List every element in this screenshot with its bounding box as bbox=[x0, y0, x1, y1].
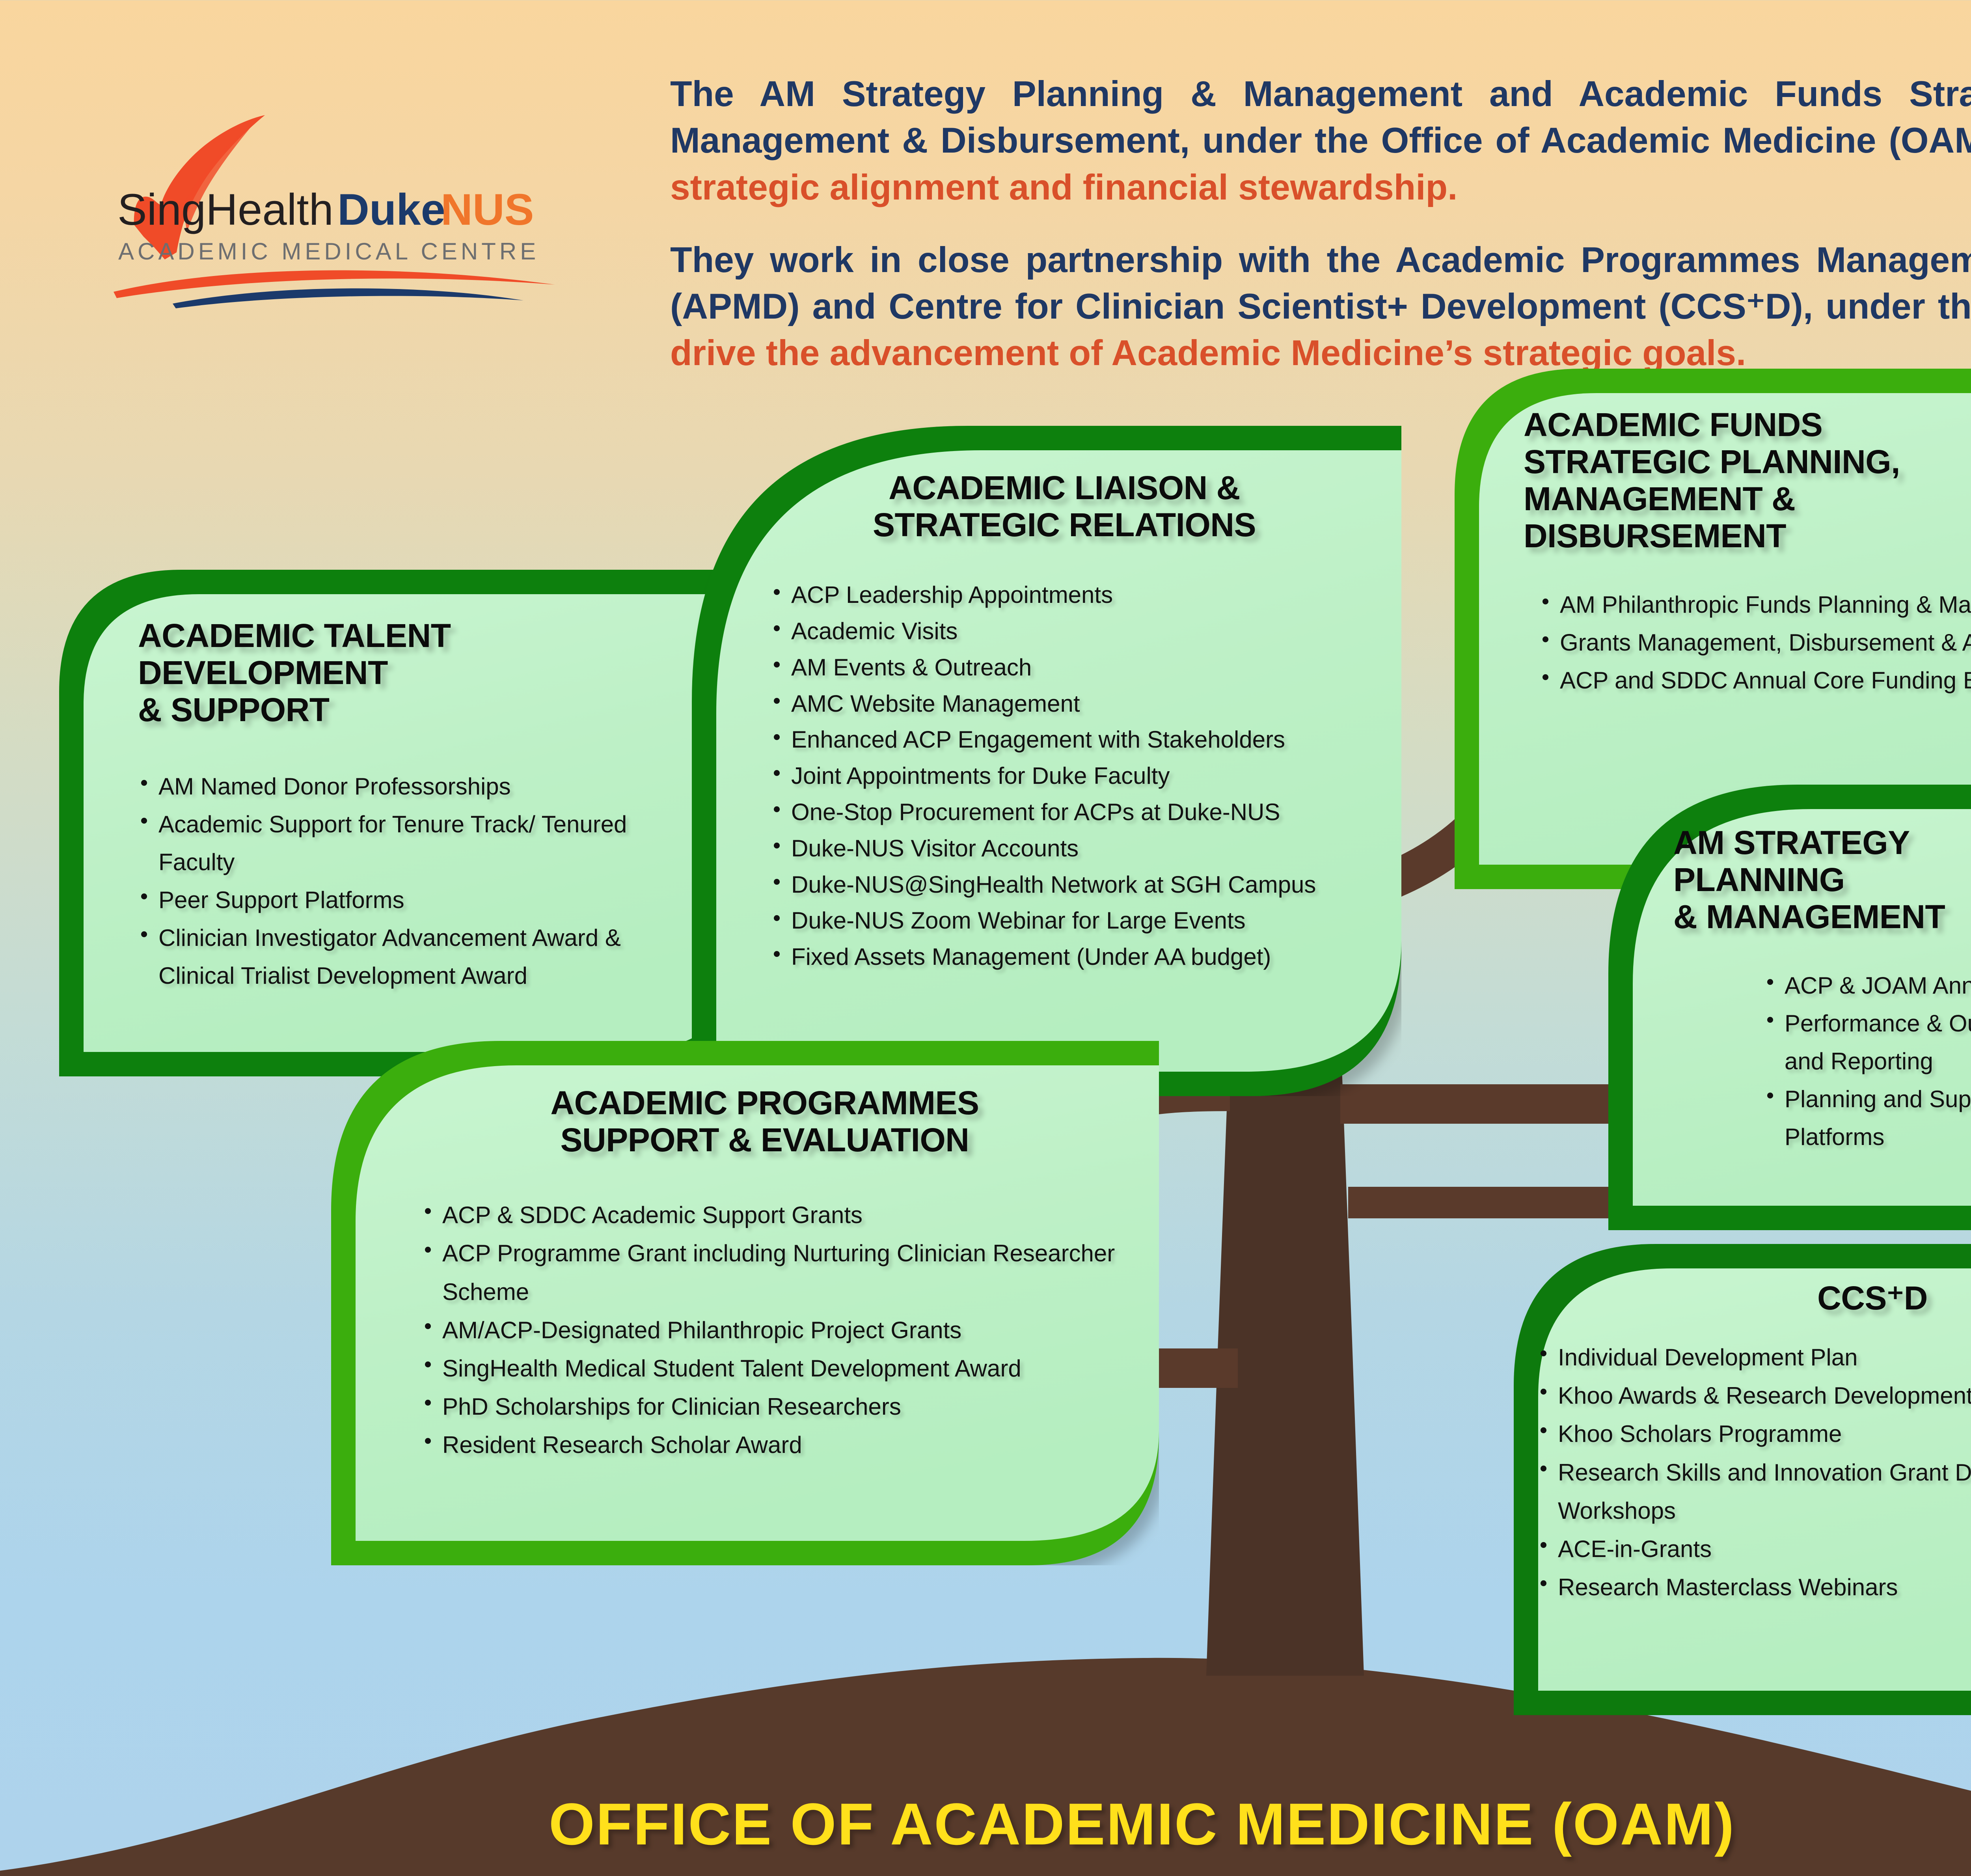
logo-nus-text: NUS bbox=[441, 185, 534, 234]
leaf-academic-talent-development-support[interactable]: ACADEMIC TALENT DEVELOPMENT & SUPPORT AM… bbox=[59, 570, 737, 1076]
leaf-am-strategy-planning-management[interactable]: AM STRATEGY PLANNING & MANAGEMENT ACP & … bbox=[1608, 785, 1971, 1230]
list-item: Enhanced ACP Engagement with Stakeholder… bbox=[771, 722, 1370, 758]
list-item: AM Named Donor Professorships bbox=[138, 768, 690, 806]
logo-artwork: SingHealth Duke NUS ACADEMIC MEDICAL CEN… bbox=[106, 106, 614, 315]
list-item: Research Skills and Innovation Grant Dev… bbox=[1537, 1453, 1971, 1530]
leaf-title-talent: ACADEMIC TALENT DEVELOPMENT & SUPPORT bbox=[138, 617, 690, 728]
list-item: ACP & SDDC Academic Support Grants bbox=[422, 1196, 1116, 1234]
list-item: Planning and Support of Strategic AM Pla… bbox=[1764, 1080, 1971, 1156]
leaf-items-funds: AM Philanthropic Funds Planning & Manage… bbox=[1539, 586, 1971, 699]
list-item: Resident Research Scholar Award bbox=[422, 1426, 1116, 1464]
leaf-academic-programmes-support-evaluation[interactable]: ACADEMIC PROGRAMMES SUPPORT & EVALUATION… bbox=[331, 1041, 1159, 1565]
list-item: Duke-NUS Zoom Webinar for Large Events bbox=[771, 903, 1370, 939]
logo-tagline-text: ACADEMIC MEDICAL CENTRE bbox=[118, 238, 539, 265]
list-item: AM Philanthropic Funds Planning & Manage… bbox=[1539, 586, 1971, 624]
list-item: Academic Support for Tenure Track/ Tenur… bbox=[138, 806, 690, 881]
singhealth-dukenus-logo: SingHealth Duke NUS ACADEMIC MEDICAL CEN… bbox=[106, 106, 614, 315]
list-item: Fixed Assets Management (Under AA budget… bbox=[771, 939, 1370, 975]
list-item: Khoo Scholars Programme bbox=[1537, 1415, 1971, 1453]
list-item: SingHealth Medical Student Talent Develo… bbox=[422, 1349, 1116, 1387]
leaf-items-programmes: ACP & SDDC Academic Support Grants ACP P… bbox=[422, 1196, 1116, 1464]
list-item: Research Masterclass Webinars bbox=[1537, 1568, 1971, 1606]
list-item: Clinician Investigator Advancement Award… bbox=[138, 919, 690, 995]
list-item: Academic Visits bbox=[771, 613, 1370, 649]
header-paragraph-1: The AM Strategy Planning & Management an… bbox=[670, 71, 1971, 211]
leaf-title-ccsd: CCS⁺D bbox=[1581, 1279, 1971, 1317]
list-item: One-Stop Procurement for ACPs at Duke-NU… bbox=[771, 794, 1370, 830]
leaf-ccs-plus-d[interactable]: CCS⁺D Individual Development Plan Khoo A… bbox=[1514, 1244, 1971, 1715]
list-item: Duke-NUS Visitor Accounts bbox=[771, 830, 1370, 867]
list-item: ACE-in-Grants bbox=[1537, 1530, 1971, 1568]
leaf-items-strategy: ACP & JOAM Annual Work Plans Performance… bbox=[1764, 967, 1971, 1156]
header-paragraph-2: They work in close partnership with the … bbox=[670, 237, 1971, 377]
header-description: The AM Strategy Planning & Management an… bbox=[670, 71, 1971, 377]
list-item: ACP Programme Grant including Nurturing … bbox=[422, 1234, 1116, 1311]
leaf-title-strategy: AM STRATEGY PLANNING & MANAGEMENT bbox=[1673, 824, 1971, 935]
list-item: PhD Scholarships for Clinician Researche… bbox=[422, 1387, 1116, 1426]
header-p2-dark: They work in close partnership with the … bbox=[670, 240, 1971, 326]
list-item: Grants Management, Disbursement & Audits bbox=[1539, 624, 1971, 662]
list-item: Khoo Awards & Research Development Semin… bbox=[1537, 1376, 1971, 1415]
leaf-items-liaison: ACP Leadership Appointments Academic Vis… bbox=[771, 577, 1370, 975]
leaf-title-funds: ACADEMIC FUNDS STRATEGIC PLANNING, MANAG… bbox=[1524, 406, 1971, 554]
leaf-items-ccsd: Individual Development Plan Khoo Awards … bbox=[1537, 1338, 1971, 1606]
list-item: Individual Development Plan bbox=[1537, 1338, 1971, 1376]
leaf-academic-liaison-strategic-relations[interactable]: ACADEMIC LIAISON & STRATEGIC RELATIONS A… bbox=[692, 426, 1401, 1096]
list-item: ACP Leadership Appointments bbox=[771, 577, 1370, 613]
leaf-title-programmes: ACADEMIC PROGRAMMES SUPPORT & EVALUATION bbox=[414, 1084, 1116, 1158]
list-item: Joint Appointments for Duke Faculty bbox=[771, 758, 1370, 794]
logo-singhealth-text: SingHealth bbox=[117, 185, 333, 234]
leaf-items-talent: AM Named Donor Professorships Academic S… bbox=[138, 768, 690, 995]
list-item: Performance & Outcome Measurement and Re… bbox=[1764, 1005, 1971, 1080]
list-item: Duke-NUS@SingHealth Network at SGH Campu… bbox=[771, 867, 1370, 903]
logo-duke-text: Duke bbox=[337, 185, 445, 234]
banner-office-of-academic-medicine: OFFICE OF ACADEMIC MEDICINE (OAM) bbox=[0, 1790, 1971, 1858]
list-item: AM Events & Outreach bbox=[771, 649, 1370, 686]
list-item: Peer Support Platforms bbox=[138, 881, 690, 919]
list-item: ACP & JOAM Annual Work Plans bbox=[1764, 967, 1971, 1005]
list-item: ACP and SDDC Annual Core Funding Budget … bbox=[1539, 662, 1971, 699]
list-item: AMC Website Management bbox=[771, 686, 1370, 722]
header-p1-dark: The AM Strategy Planning & Management an… bbox=[670, 74, 1971, 160]
list-item: AM/ACP-Designated Philanthropic Project … bbox=[422, 1311, 1116, 1349]
leaf-title-liaison: ACADEMIC LIAISON & STRATEGIC RELATIONS bbox=[759, 469, 1370, 543]
